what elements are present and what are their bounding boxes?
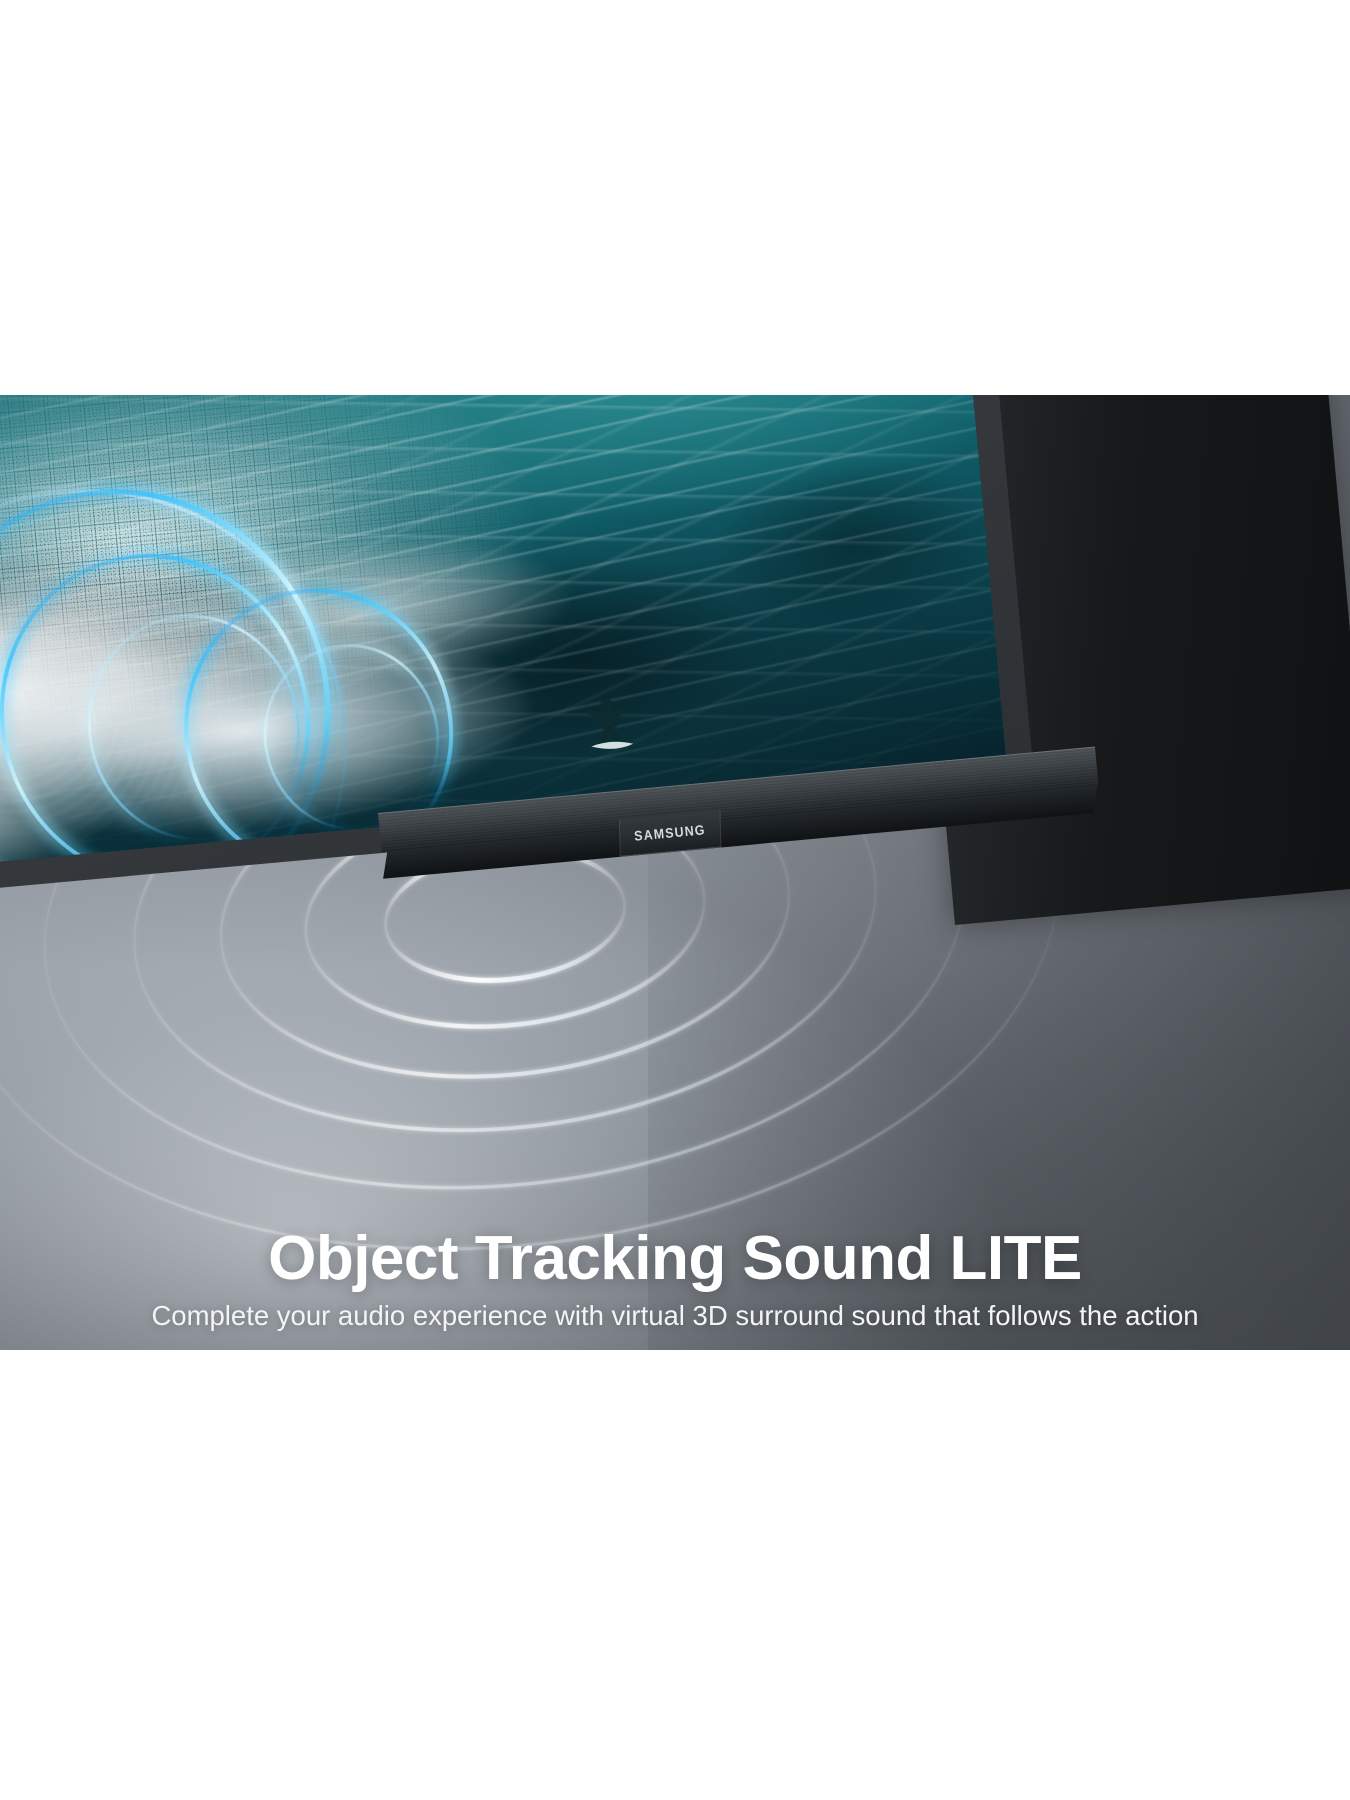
headline: Object Tracking Sound LITE xyxy=(24,1227,1326,1291)
sound-ring-2 xyxy=(0,517,348,869)
product-feature-page: SAMSUNG Object Tracking Sound LITE Compl… xyxy=(0,0,1350,1800)
subheadline: Complete your audio experience with virt… xyxy=(24,1301,1326,1332)
samsung-logo-text: SAMSUNG xyxy=(634,822,707,844)
samsung-logo-plate: SAMSUNG xyxy=(619,809,721,857)
letterbox-bottom xyxy=(0,1350,1350,1800)
sound-ring-3 xyxy=(64,592,323,863)
letterbox-top xyxy=(0,0,1350,395)
caption-block: Object Tracking Sound LITE Complete your… xyxy=(0,1227,1350,1332)
hero-banner: SAMSUNG Object Tracking Sound LITE Compl… xyxy=(0,395,1350,1350)
sound-ring-6 xyxy=(0,414,421,869)
surfer-silhouette xyxy=(579,691,640,756)
